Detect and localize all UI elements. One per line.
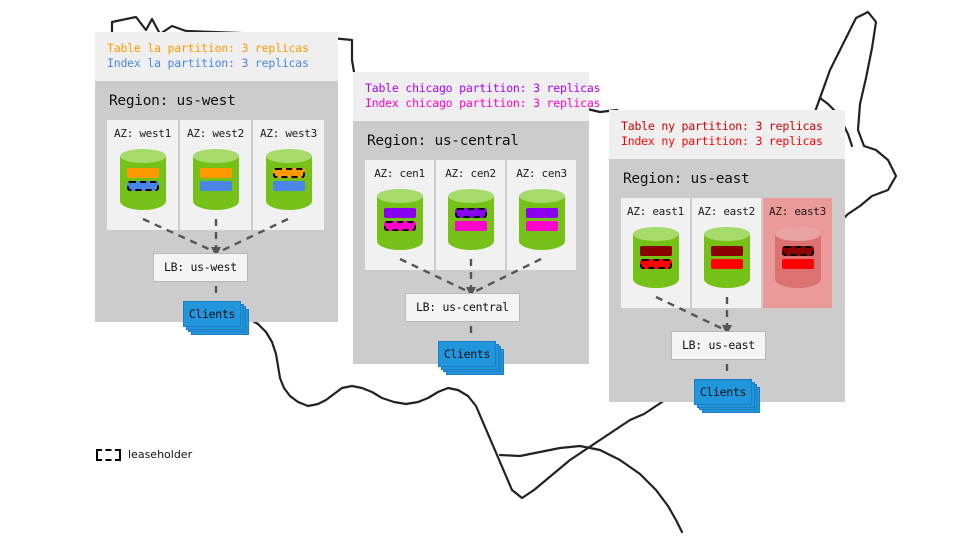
az-label: AZ: cen2: [445, 167, 496, 180]
index-partition-line: Index ny partition: 3 replicas: [621, 134, 833, 149]
index-replica-band: [782, 259, 814, 269]
clients-label: Clients: [438, 341, 496, 367]
index-replica-band: [273, 181, 305, 191]
table-replica-band-leaseholder: [273, 168, 305, 178]
az-label: AZ: east3: [769, 205, 826, 218]
az-cell-west1[interactable]: AZ: west1: [107, 120, 178, 230]
table-replica-band: [384, 208, 416, 218]
region-panel-us-west: Table la partition: 3 replicas Index la …: [95, 32, 338, 322]
az-label: AZ: cen3: [516, 167, 567, 180]
node-cylinder[interactable]: [266, 149, 312, 213]
clients-stack-us-central[interactable]: Clients: [438, 341, 504, 375]
az-cell-west3[interactable]: AZ: west3: [253, 120, 324, 230]
clients-stack-us-east[interactable]: Clients: [694, 379, 760, 413]
region-body-us-west: Region: us-west AZ: west1 AZ: west2: [95, 81, 338, 322]
dashed-rectangle-icon: [96, 449, 121, 461]
region-panel-us-east: Table ny partition: 3 replicas Index ny …: [609, 110, 845, 402]
table-replica-band-leaseholder: [782, 246, 814, 256]
cylinder-top: [519, 189, 565, 203]
az-cell-east1[interactable]: AZ: east1: [621, 198, 690, 308]
az-label: AZ: west3: [260, 127, 317, 140]
table-replica-band-leaseholder: [455, 208, 487, 218]
table-replica-band: [526, 208, 558, 218]
node-cylinder-failed[interactable]: [775, 227, 821, 291]
cylinder-top: [775, 227, 821, 241]
clients-label: Clients: [694, 379, 752, 405]
node-cylinder[interactable]: [377, 189, 423, 253]
cylinder-top: [266, 149, 312, 163]
node-cylinder[interactable]: [633, 227, 679, 291]
cylinder-top: [704, 227, 750, 241]
index-replica-band: [526, 221, 558, 231]
table-replica-band: [711, 246, 743, 256]
az-cell-west2[interactable]: AZ: west2: [180, 120, 251, 230]
node-cylinder[interactable]: [448, 189, 494, 253]
index-partition-line: Index la partition: 3 replicas: [107, 56, 326, 71]
node-cylinder[interactable]: [120, 149, 166, 213]
az-label: AZ: west1: [114, 127, 171, 140]
az-cell-cen3[interactable]: AZ: cen3: [507, 160, 576, 270]
gulf-coast-detail: [500, 446, 682, 532]
az-cell-east2[interactable]: AZ: east2: [692, 198, 761, 308]
index-replica-band-leaseholder: [640, 259, 672, 269]
region-title: Region: us-west: [109, 93, 326, 109]
table-partition-line: Table la partition: 3 replicas: [107, 41, 326, 56]
az-row: AZ: west1 AZ: west2 AZ: west3: [107, 120, 326, 230]
region-header-us-central: Table chicago partition: 3 replicas Inde…: [353, 72, 589, 121]
index-replica-band-leaseholder: [384, 221, 416, 231]
region-body-us-east: Region: us-east AZ: east1 AZ: east2: [609, 159, 845, 402]
cylinder-top: [193, 149, 239, 163]
table-replica-band: [200, 168, 232, 178]
node-cylinder[interactable]: [704, 227, 750, 291]
region-header-us-east: Table ny partition: 3 replicas Index ny …: [609, 110, 845, 159]
clients-label: Clients: [183, 301, 241, 327]
region-panel-us-central: Table chicago partition: 3 replicas Inde…: [353, 72, 589, 364]
cylinder-top: [633, 227, 679, 241]
node-cylinder[interactable]: [193, 149, 239, 213]
region-header-us-west: Table la partition: 3 replicas Index la …: [95, 32, 338, 81]
az-label: AZ: east2: [698, 205, 755, 218]
legend-label: leaseholder: [128, 448, 192, 461]
region-body-us-central: Region: us-central AZ: cen1 AZ: cen2: [353, 121, 589, 364]
index-replica-band-leaseholder: [127, 181, 159, 191]
az-cell-east3-failed[interactable]: AZ: east3: [763, 198, 832, 308]
legend: leaseholder: [96, 448, 192, 461]
index-replica-band: [455, 221, 487, 231]
index-replica-band: [200, 181, 232, 191]
az-row: AZ: east1 AZ: east2 AZ: east3: [621, 198, 833, 308]
table-replica-band: [640, 246, 672, 256]
load-balancer-us-central[interactable]: LB: us-central: [405, 293, 520, 322]
az-cell-cen1[interactable]: AZ: cen1: [365, 160, 434, 270]
az-cell-cen2[interactable]: AZ: cen2: [436, 160, 505, 270]
az-label: AZ: cen1: [374, 167, 425, 180]
az-label: AZ: east1: [627, 205, 684, 218]
az-row: AZ: cen1 AZ: cen2 AZ: cen3: [365, 160, 577, 270]
node-cylinder[interactable]: [519, 189, 565, 253]
cylinder-top: [377, 189, 423, 203]
table-partition-line: Table ny partition: 3 replicas: [621, 119, 833, 134]
load-balancer-us-west[interactable]: LB: us-west: [153, 253, 248, 282]
index-partition-line: Index chicago partition: 3 replicas: [365, 96, 577, 111]
region-title: Region: us-east: [623, 171, 833, 187]
region-title: Region: us-central: [367, 133, 577, 149]
table-replica-band: [127, 168, 159, 178]
clients-stack-us-west[interactable]: Clients: [183, 301, 249, 335]
load-balancer-us-east[interactable]: LB: us-east: [671, 331, 766, 360]
table-partition-line: Table chicago partition: 3 replicas: [365, 81, 577, 96]
az-label: AZ: west2: [187, 127, 244, 140]
index-replica-band: [711, 259, 743, 269]
cylinder-top: [120, 149, 166, 163]
cylinder-top: [448, 189, 494, 203]
